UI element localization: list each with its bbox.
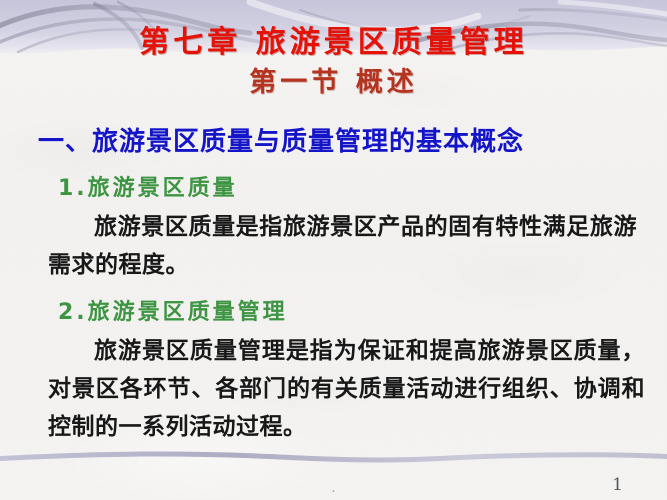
presentation-slide: 第七章 旅游景区质量管理 第一节 概述 一、旅游景区质量与质量管理的基本概念 1… [0,0,667,500]
slide-subtitle: 第一节 概述 [0,60,667,99]
item-paragraph-2: 旅游景区质量管理是指为保证和提高旅游景区质量，对景区各环节、各部门的有关质量活动… [0,332,667,446]
section-heading: 一、旅游景区质量与质量管理的基本概念 [0,120,667,164]
spacer [0,284,667,294]
footer-band-fill [0,452,667,463]
slide-body: 一、旅游景区质量与质量管理的基本概念 1.旅游景区质量 旅游景区质量是指旅游景区… [0,120,667,446]
slide-title: 第七章 旅游景区质量管理 [0,17,667,61]
item-paragraph-1: 旅游景区质量是指旅游景区产品的固有特性满足旅游需求的程度。 [0,208,667,284]
item-heading-2: 2.旅游景区质量管理 [0,294,667,332]
center-mark: . [331,481,335,496]
item-heading-1: 1.旅游景区质量 [0,170,667,208]
footer-decorative-band [0,449,667,463]
footer-wave-graphic [0,449,667,463]
page-number: 1 [612,475,623,495]
